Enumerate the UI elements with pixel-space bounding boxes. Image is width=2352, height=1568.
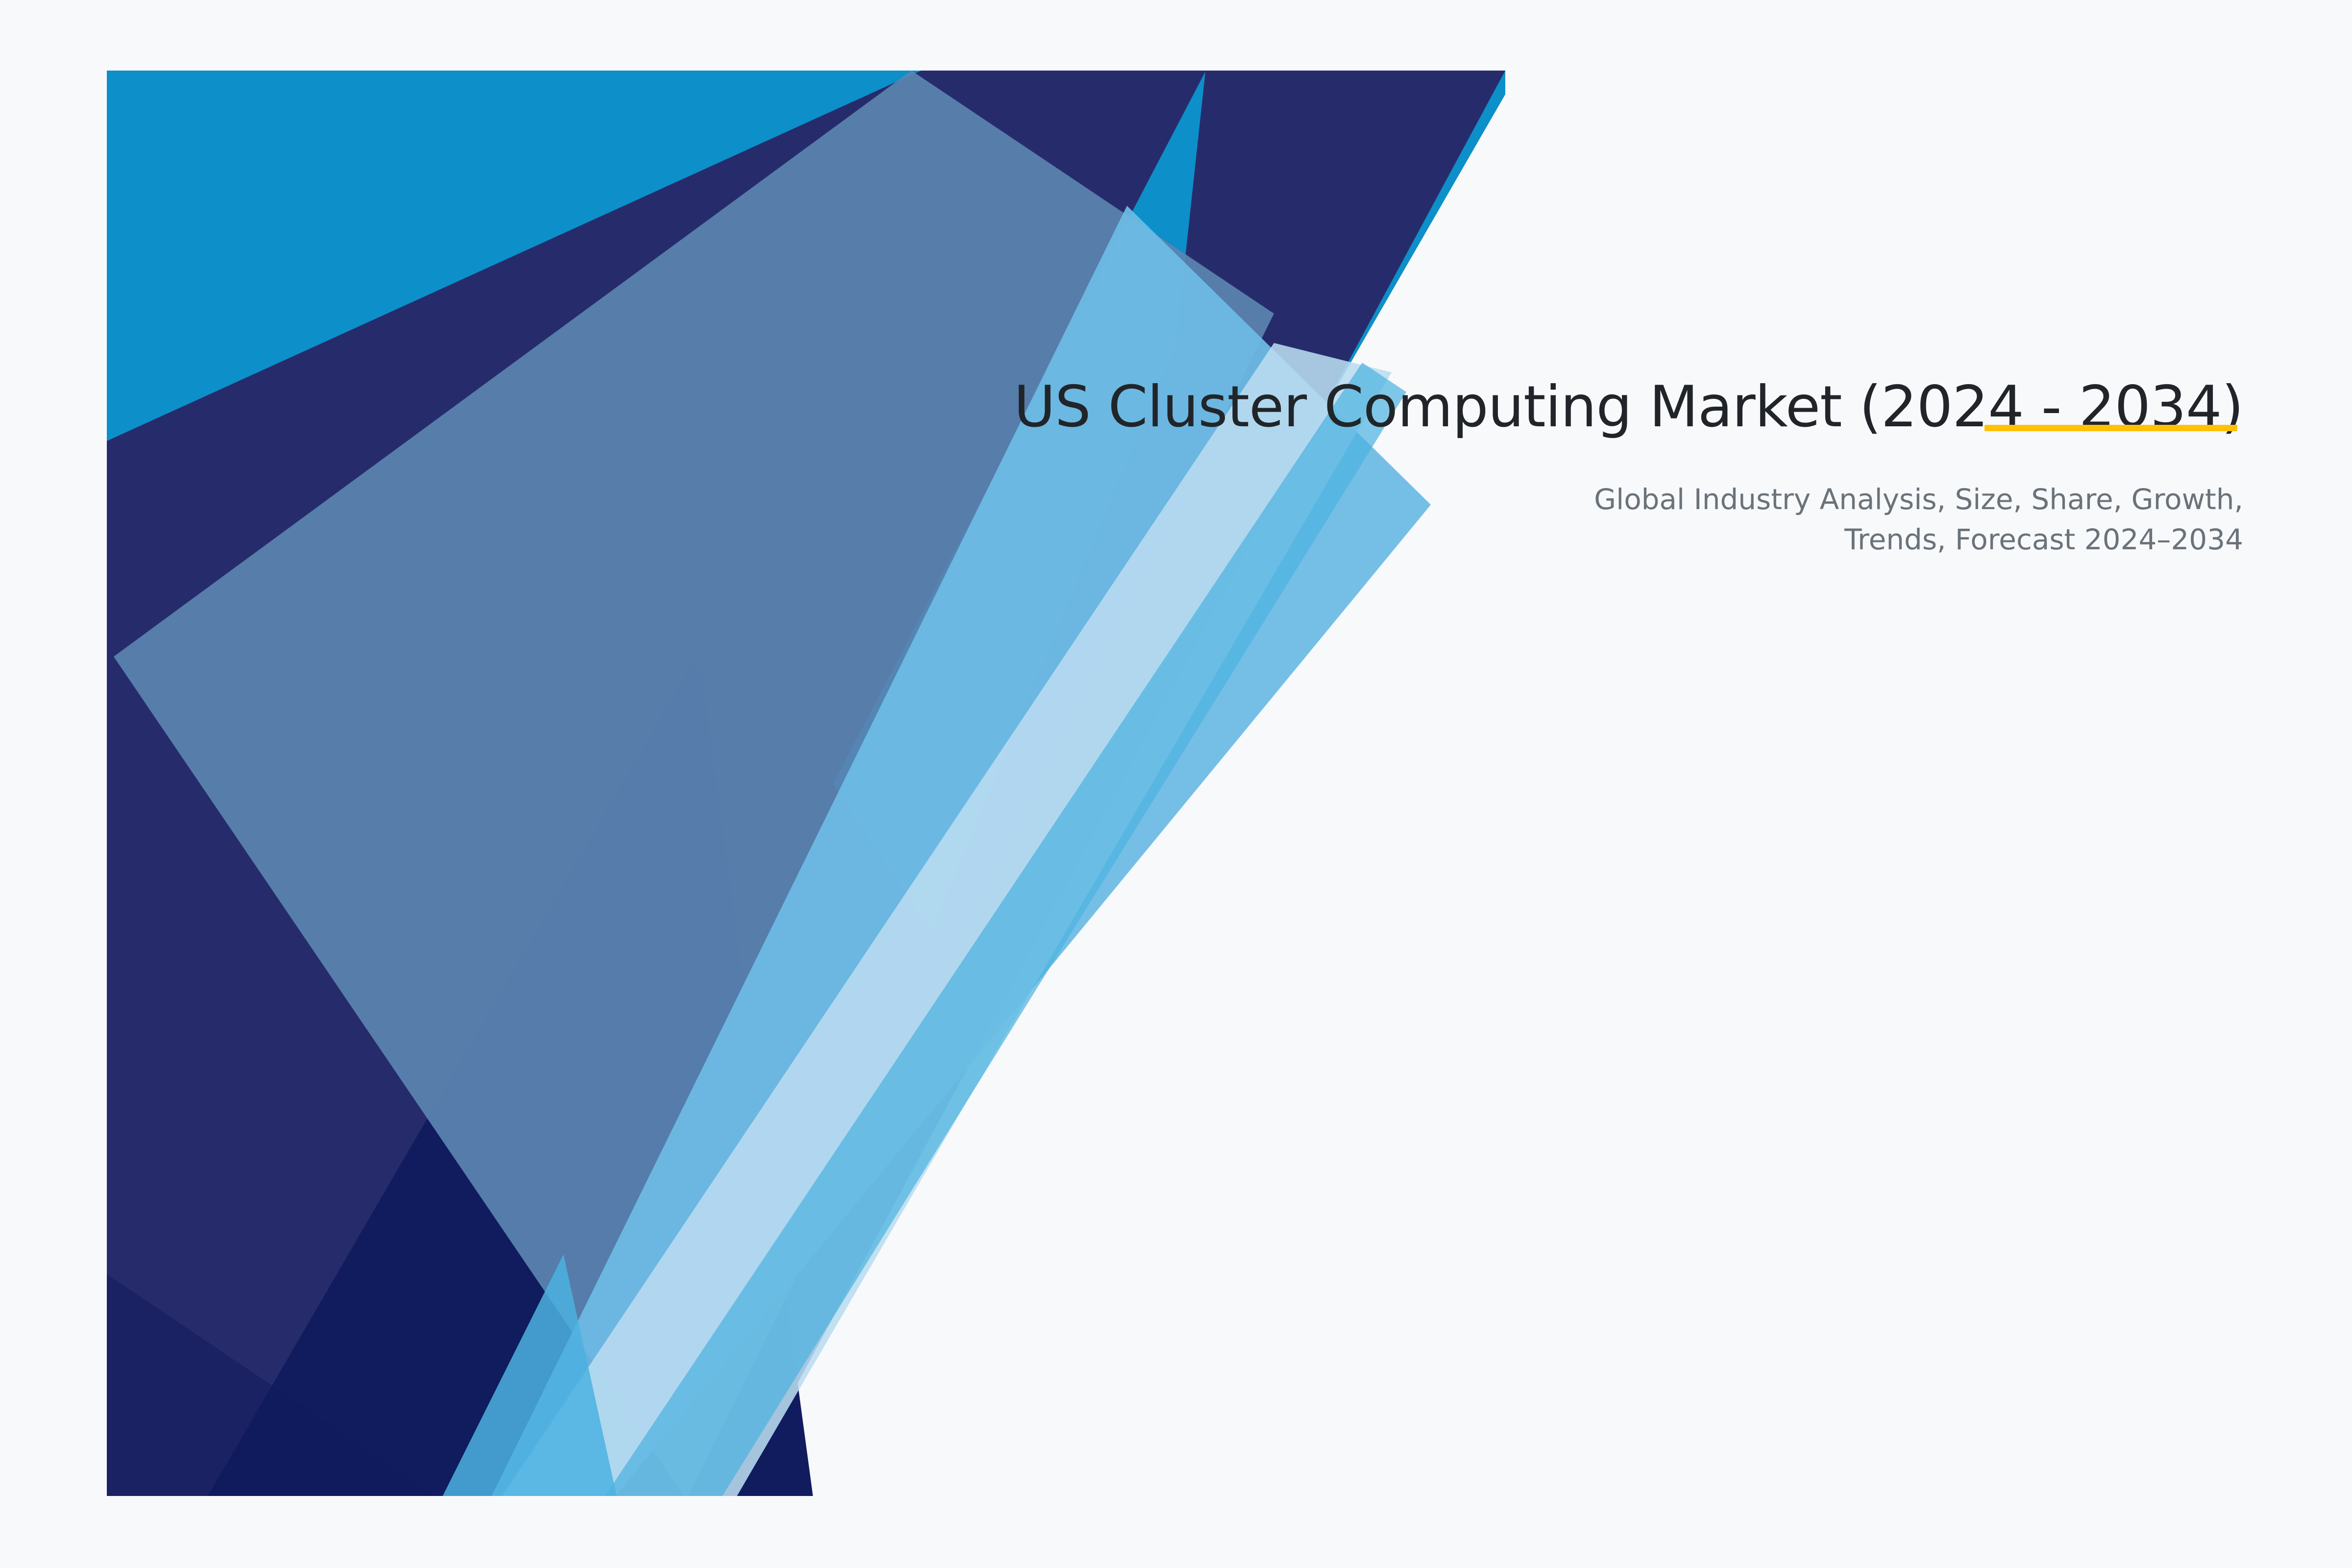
cyan-field-shape xyxy=(107,71,1519,1499)
title-text-block: US Cluster Computing Market (2024 - 2034… xyxy=(793,372,2243,560)
slate-blue-quad-shape xyxy=(114,71,1274,1499)
bottom-light-accent xyxy=(441,1254,617,1499)
dark-navy-lower-mass xyxy=(343,666,813,1499)
page-title: US Cluster Computing Market (2024 - 2034… xyxy=(793,372,2243,442)
title-slide: US Cluster Computing Market (2024 - 2034… xyxy=(0,0,2352,1568)
title-accent-bar xyxy=(1984,425,2237,431)
dark-navy-spike-shape xyxy=(206,657,725,1499)
dark-navy-foot xyxy=(107,1274,441,1499)
page-subtitle: Global Industry Analysis, Size, Share, G… xyxy=(1587,479,2243,560)
navy-diagonal-band xyxy=(107,71,1505,1499)
abstract-polygon-artwork xyxy=(0,0,2352,1568)
title-wrapper: US Cluster Computing Market (2024 - 2034… xyxy=(793,372,2243,442)
